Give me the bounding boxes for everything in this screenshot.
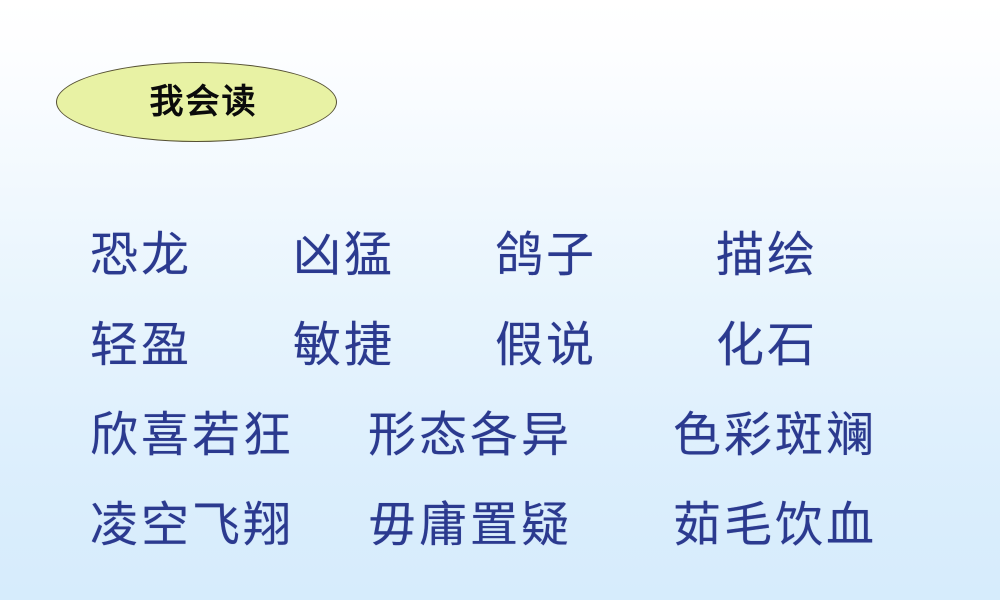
word-row-1: 恐龙 凶猛 鸽子 描绘 (0, 224, 1000, 314)
title-badge-label: 我会读 (136, 85, 258, 119)
word-item: 描绘 (716, 224, 818, 286)
word-row-4: 凌空飞翔 毋庸置疑 茹毛饮血 (0, 494, 1000, 584)
word-row-2: 轻盈 敏捷 假说 化石 (0, 314, 1000, 404)
word-row-3: 欣喜若狂 形态各异 色彩斑斓 (0, 404, 1000, 494)
slide-canvas: 我会读 恐龙 凶猛 鸽子 描绘 轻盈 敏捷 假说 化石 欣喜若狂 形态各异 色彩… (0, 0, 1000, 600)
word-item: 轻盈 (90, 314, 192, 376)
word-item: 茹毛饮血 (673, 494, 877, 556)
word-list: 恐龙 凶猛 鸽子 描绘 轻盈 敏捷 假说 化石 欣喜若狂 形态各异 色彩斑斓 凌… (0, 224, 1000, 584)
word-item: 欣喜若狂 (90, 404, 294, 466)
word-item: 鸽子 (495, 224, 597, 286)
word-item: 恐龙 (90, 224, 192, 286)
word-item: 凶猛 (293, 224, 395, 286)
word-item: 化石 (716, 314, 818, 376)
word-item: 假说 (495, 314, 597, 376)
word-item: 形态各异 (368, 404, 572, 466)
word-item: 色彩斑斓 (673, 404, 877, 466)
word-item: 凌空飞翔 (90, 494, 294, 556)
word-item: 敏捷 (293, 314, 395, 376)
word-item: 毋庸置疑 (368, 494, 572, 556)
title-badge-oval: 我会读 (56, 62, 337, 142)
